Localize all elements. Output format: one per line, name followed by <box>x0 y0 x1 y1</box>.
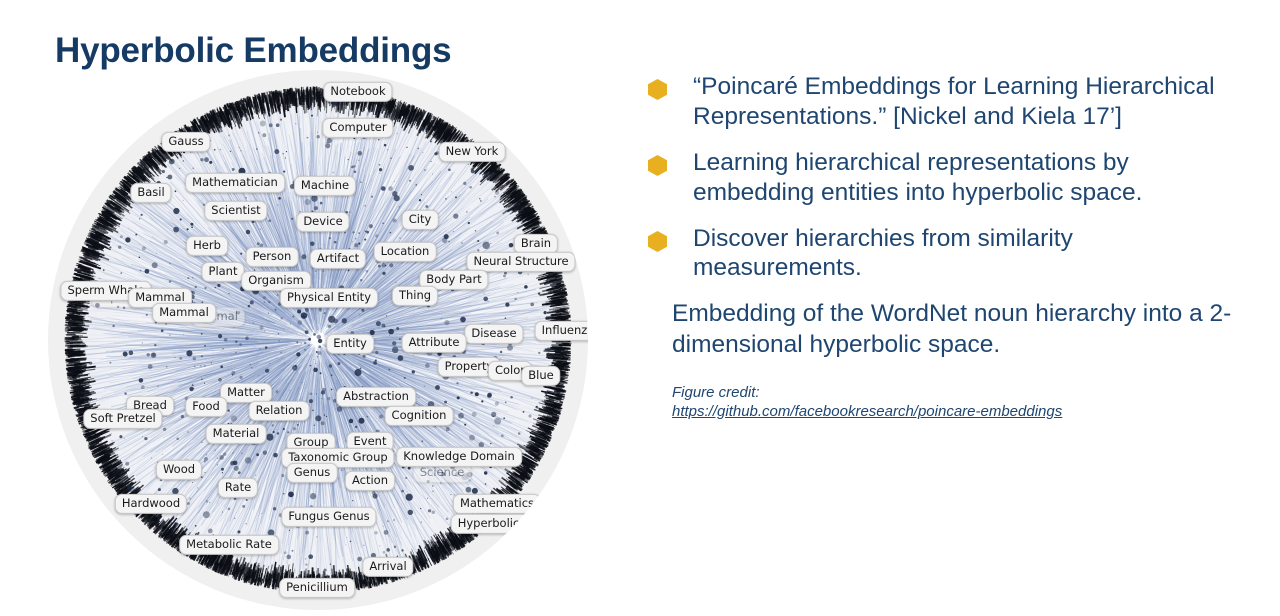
bullet-item-2: Learning hierarchical representations by… <box>640 148 1270 208</box>
bullet-text-2: Learning hierarchical representations by… <box>693 148 1253 208</box>
poincare-disk-figure: NotebookComputerGaussNew YorkMathematici… <box>48 70 588 610</box>
node-label: Penicillium <box>279 578 355 598</box>
node-label: Thing <box>392 286 438 306</box>
node-label: Abstraction <box>336 387 416 407</box>
node-label: Genus <box>287 463 338 483</box>
node-label: Hardwood <box>115 494 187 514</box>
node-label: Wood <box>156 460 202 480</box>
node-label: Device <box>296 212 349 232</box>
figure-credit-link[interactable]: https://github.com/facebookresearch/poin… <box>672 403 1062 420</box>
node-label: Knowledge Domain <box>396 447 522 467</box>
node-label: Influenza <box>535 321 588 341</box>
content-column: “Poincaré Embeddings for Learning Hierar… <box>640 72 1270 422</box>
node-label: Mammal <box>152 303 216 323</box>
node-label: Location <box>374 242 437 262</box>
node-label: Plant <box>202 262 245 282</box>
node-label: Fungus Genus <box>281 507 376 527</box>
node-label: Physical Entity <box>280 288 378 308</box>
node-label: Scientist <box>204 201 267 221</box>
node-label: Computer <box>322 118 393 138</box>
node-label: Hyperbolic Geometry <box>451 514 588 534</box>
node-label: Machine <box>294 176 356 196</box>
node-label: Gauss <box>161 132 210 152</box>
node-label: Blue <box>521 366 560 386</box>
figure-credit: Figure credit: https://github.com/facebo… <box>672 383 1270 422</box>
figure-credit-label: Figure credit: <box>672 384 760 401</box>
hexagon-bullet-icon <box>648 79 667 100</box>
hexagon-bullet-icon <box>648 231 667 252</box>
node-label: Mathematics <box>453 494 541 514</box>
node-label: Action <box>345 471 395 491</box>
node-label: Food <box>185 397 227 417</box>
node-label: Person <box>246 247 299 267</box>
node-label: Relation <box>249 401 310 421</box>
node-label: City <box>402 210 439 230</box>
node-label: Soft Pretzel <box>83 409 162 429</box>
node-label: Disease <box>464 324 523 344</box>
bullet-text-3: Discover hierarchies from similarity mea… <box>693 224 1233 284</box>
node-label: Mathematician <box>185 173 285 193</box>
node-label: Basil <box>130 183 171 203</box>
node-label: Entity <box>326 334 374 354</box>
node-label: Metabolic Rate <box>179 535 279 555</box>
node-label: Rate <box>218 478 258 498</box>
bullet-item-3: Discover hierarchies from similarity mea… <box>640 224 1270 284</box>
node-label: Notebook <box>323 82 392 102</box>
bullet-item-1: “Poincaré Embeddings for Learning Hierar… <box>640 72 1270 132</box>
figure-caption: Embedding of the WordNet noun hierarchy … <box>672 299 1262 360</box>
bullet-text-1: “Poincaré Embeddings for Learning Hierar… <box>693 72 1270 132</box>
node-label: Material <box>206 424 267 444</box>
node-label: Herb <box>186 236 228 256</box>
node-label: New York <box>439 142 506 162</box>
node-label: Cognition <box>385 406 454 426</box>
node-label: Attribute <box>402 333 467 353</box>
figure-panel: NotebookComputerGaussNew YorkMathematici… <box>30 60 630 616</box>
hexagon-bullet-icon <box>648 155 667 176</box>
node-label: Artifact <box>310 249 366 269</box>
node-label: Arrival <box>362 557 413 577</box>
